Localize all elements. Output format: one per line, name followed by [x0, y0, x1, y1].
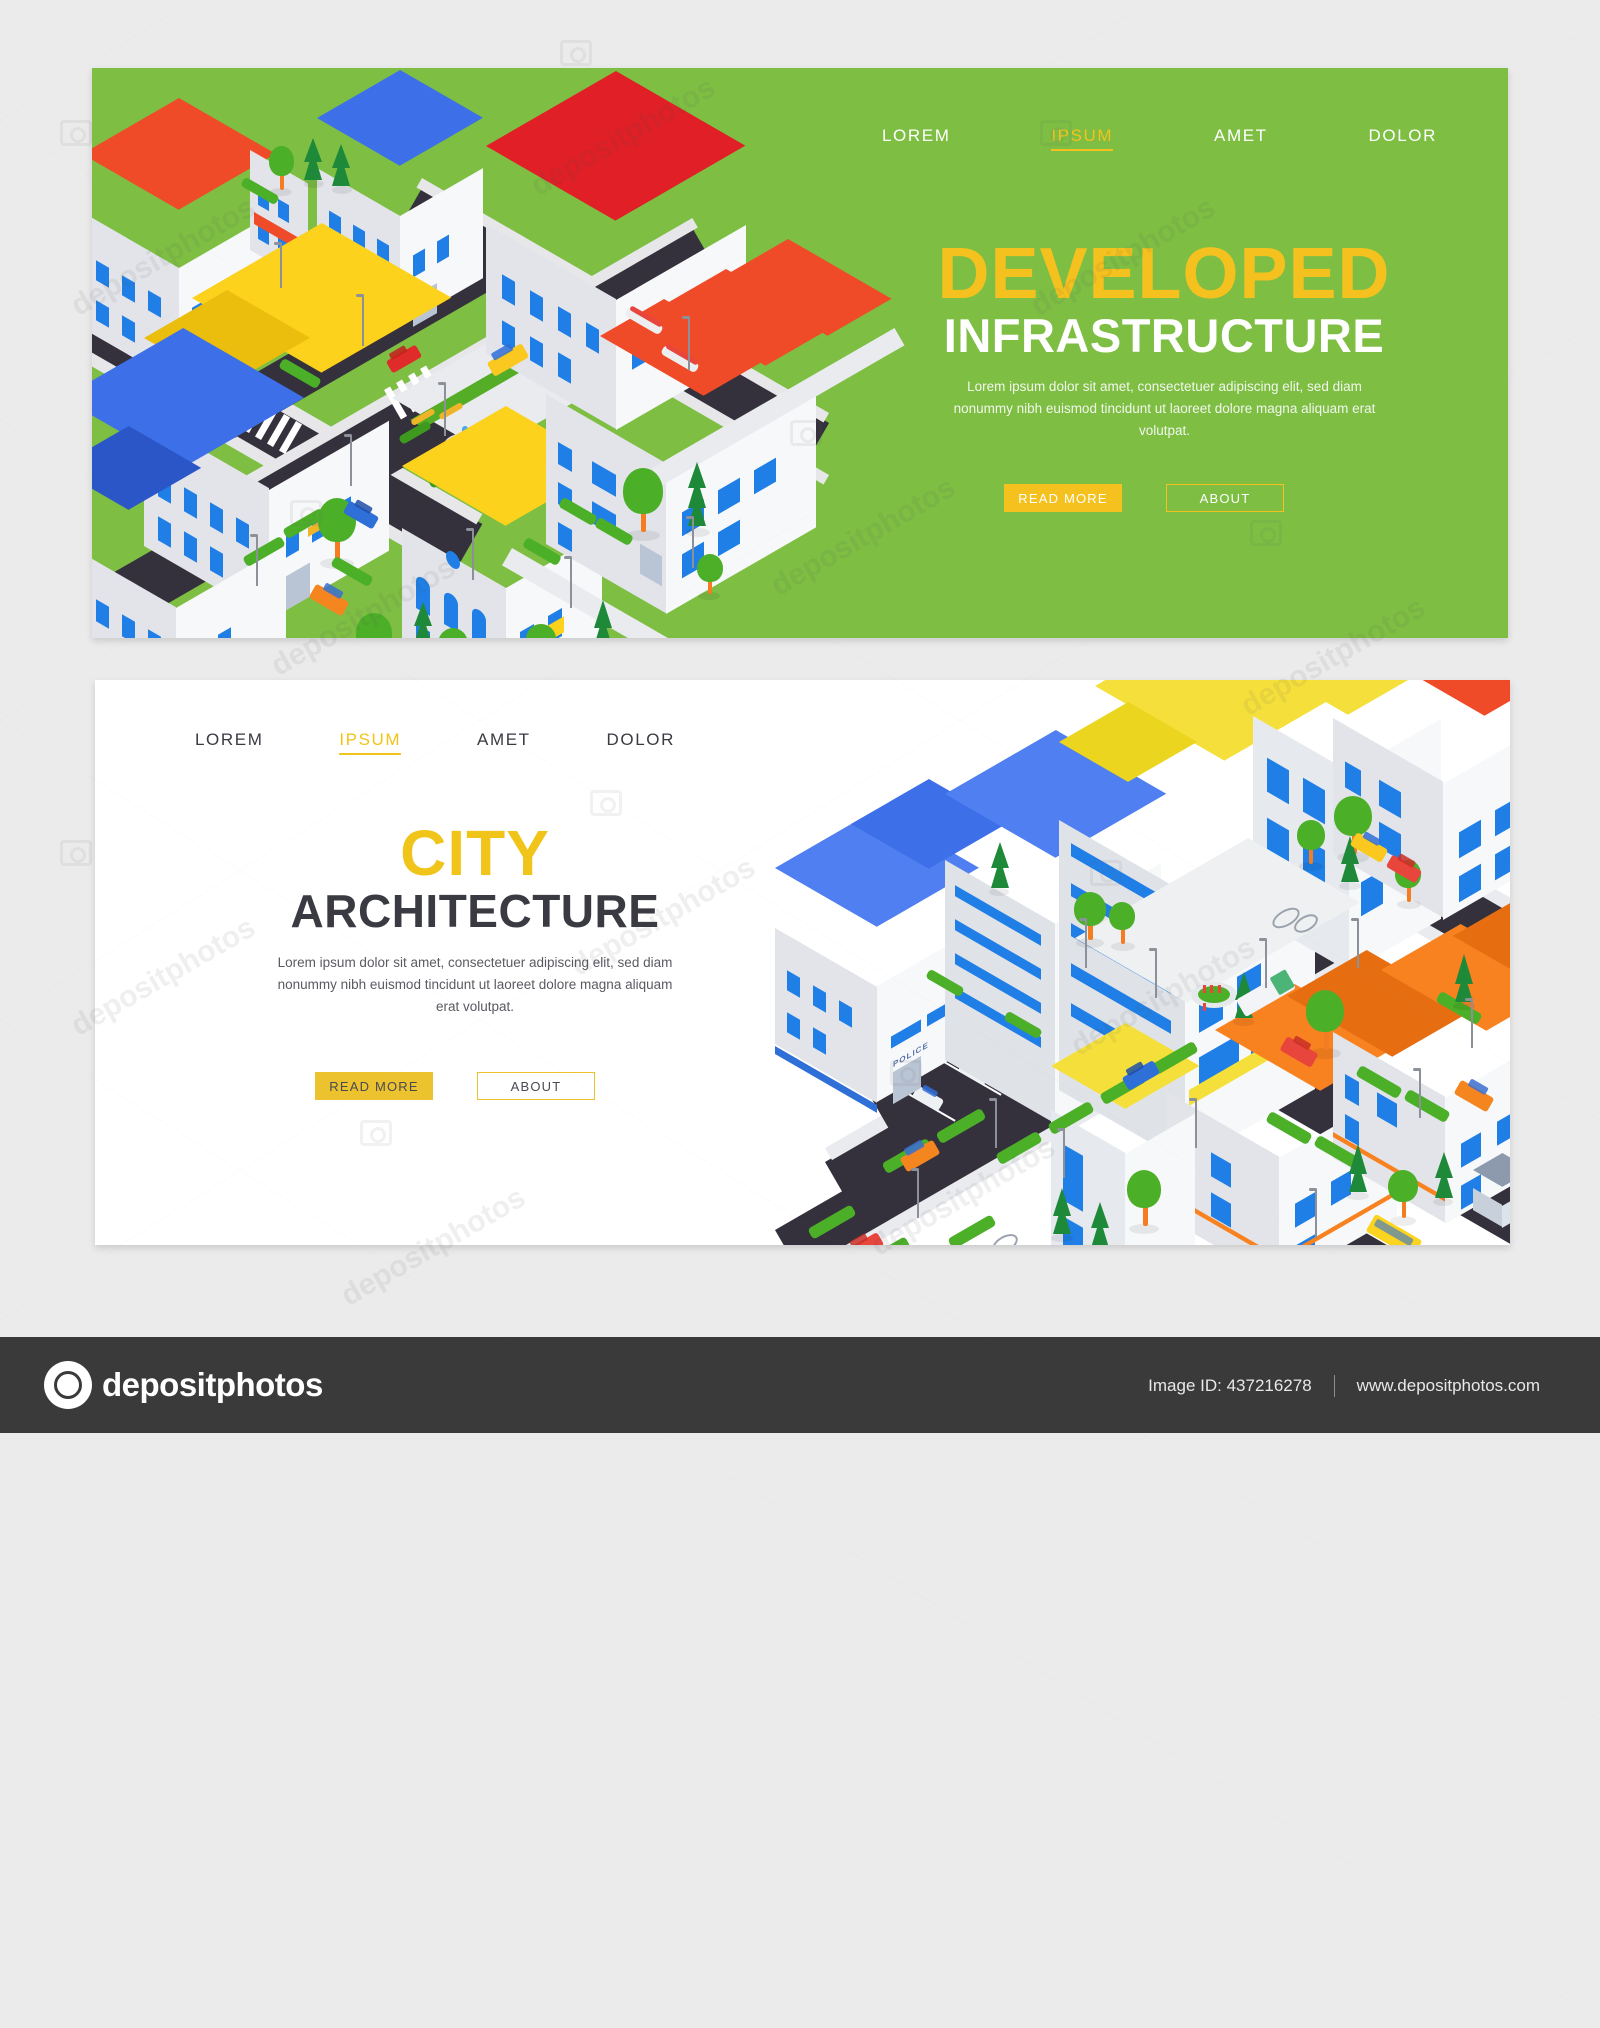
isometric-city-illustration-right: POLICE — [795, 680, 1510, 1245]
headline-top: DEVELOPED — [844, 238, 1484, 311]
isometric-city-illustration-left — [92, 68, 862, 638]
read-more-button[interactable]: READ MORE — [1004, 484, 1122, 512]
watermark-camera-icon — [560, 40, 592, 66]
nav-item-lorem[interactable]: LOREM — [195, 730, 263, 755]
website-link[interactable]: www.depositphotos.com — [1357, 1376, 1540, 1396]
headline-top: CITY — [215, 820, 735, 887]
footer-divider — [1334, 1375, 1335, 1397]
nav-item-amet[interactable]: AMET — [1214, 126, 1268, 151]
image-id-label: Image ID: 437216278 — [1148, 1376, 1312, 1396]
about-button[interactable]: ABOUT — [1166, 484, 1284, 512]
nav-item-amet[interactable]: AMET — [477, 730, 531, 755]
watermark-camera-icon — [60, 840, 92, 866]
watermark-camera-icon — [60, 120, 92, 146]
nav-item-dolor[interactable]: DOLOR — [607, 730, 675, 755]
about-button[interactable]: ABOUT — [477, 1072, 595, 1100]
footer-bar: depositphotos Image ID: 437216278 www.de… — [0, 1337, 1600, 1433]
banner-one-nav: LOREM IPSUM AMET DOLOR — [882, 126, 1437, 151]
banner-two-button-row: READ MORE ABOUT — [315, 1072, 595, 1100]
brand-name: depositphotos — [102, 1366, 323, 1404]
footer-meta: Image ID: 437216278 www.depositphotos.co… — [1148, 1375, 1540, 1397]
headline-bottom: INFRASTRUCTURE — [844, 311, 1484, 360]
nav-item-dolor[interactable]: DOLOR — [1369, 126, 1437, 151]
nav-item-ipsum[interactable]: IPSUM — [1051, 126, 1113, 151]
nav-item-lorem[interactable]: LOREM — [882, 126, 950, 151]
banner-two-paragraph: Lorem ipsum dolor sit amet, consectetuer… — [265, 952, 685, 1018]
nav-item-ipsum[interactable]: IPSUM — [339, 730, 401, 755]
banner-one-headline: DEVELOPED INFRASTRUCTURE — [844, 238, 1484, 361]
banner-one-button-row: READ MORE ABOUT — [1004, 484, 1284, 512]
page-canvas: LOREM IPSUM AMET DOLOR DEVELOPED INFRAST… — [0, 0, 1600, 1433]
banner-two-nav: LOREM IPSUM AMET DOLOR — [195, 730, 675, 755]
read-more-button[interactable]: READ MORE — [315, 1072, 433, 1100]
bicycle-parking — [989, 1230, 1021, 1245]
depositphotos-logo: depositphotos — [44, 1361, 323, 1409]
banner-one-paragraph: Lorem ipsum dolor sit amet, consectetuer… — [937, 376, 1392, 442]
banner-two-headline: CITY ARCHITECTURE — [215, 820, 735, 935]
banner-city-architecture: LOREM IPSUM AMET DOLOR CITY ARCHITECTURE… — [95, 680, 1510, 1245]
headline-bottom: ARCHITECTURE — [215, 887, 735, 935]
camera-icon — [44, 1361, 92, 1409]
banner-developed-infrastructure: LOREM IPSUM AMET DOLOR DEVELOPED INFRAST… — [92, 68, 1508, 638]
